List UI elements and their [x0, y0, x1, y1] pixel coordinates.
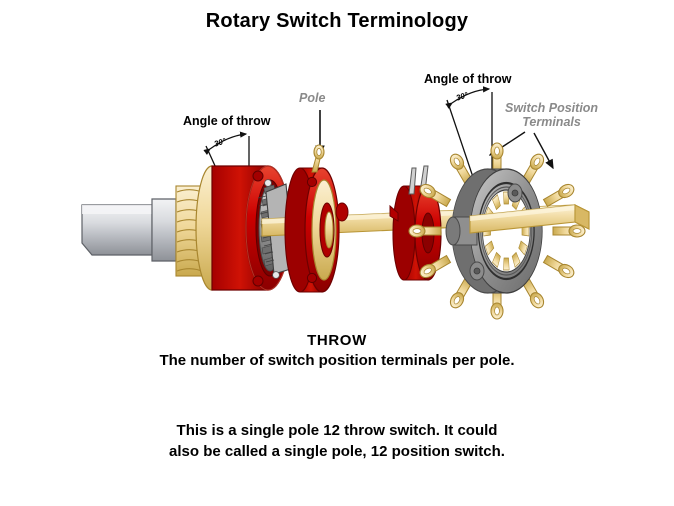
pole-lug-top — [307, 177, 316, 186]
part-terminal-wafer — [409, 143, 585, 319]
summary-line-2: also be called a single pole, 12 positio… — [0, 441, 674, 462]
part-pole-wafer — [285, 145, 348, 292]
wafer-boss-bottom-hole — [474, 268, 480, 274]
body-lug-bottom — [253, 276, 263, 286]
label-angle-of-throw-left: Angle of throw — [183, 114, 271, 128]
wafer-hub-end — [446, 217, 460, 245]
pole-boss-right — [336, 203, 348, 221]
part-shaft-bushing-assembly — [82, 199, 176, 261]
pole-terminal-hole — [317, 148, 321, 155]
label-switch-position-terminals: Switch Position Terminals — [505, 101, 598, 129]
pole-lug-bottom — [307, 273, 316, 282]
pole-inner-gold-hub — [325, 212, 333, 248]
caption-throw-definition: The number of switch position terminals … — [0, 352, 674, 369]
shaft-highlight — [82, 205, 152, 214]
wafer-boss-top-hole — [512, 190, 518, 196]
shaft-collar — [152, 199, 176, 261]
summary-paragraph: This is a single pole 12 throw switch. I… — [0, 420, 674, 462]
summary-line-1: This is a single pole 12 throw switch. I… — [0, 420, 674, 441]
label-pole: Pole — [299, 91, 325, 105]
body-lug-top — [253, 171, 263, 181]
detent-ball-top — [265, 180, 272, 187]
spt-line-2: Terminals — [505, 115, 598, 129]
detent-ball-bottom — [273, 272, 280, 279]
caption-throw-heading: THROW — [0, 332, 674, 349]
label-angle-of-throw-right: Angle of throw — [424, 72, 512, 86]
spt-line-1: Switch Position — [505, 101, 598, 115]
slide-root: Rotary Switch Terminology — [0, 0, 674, 506]
